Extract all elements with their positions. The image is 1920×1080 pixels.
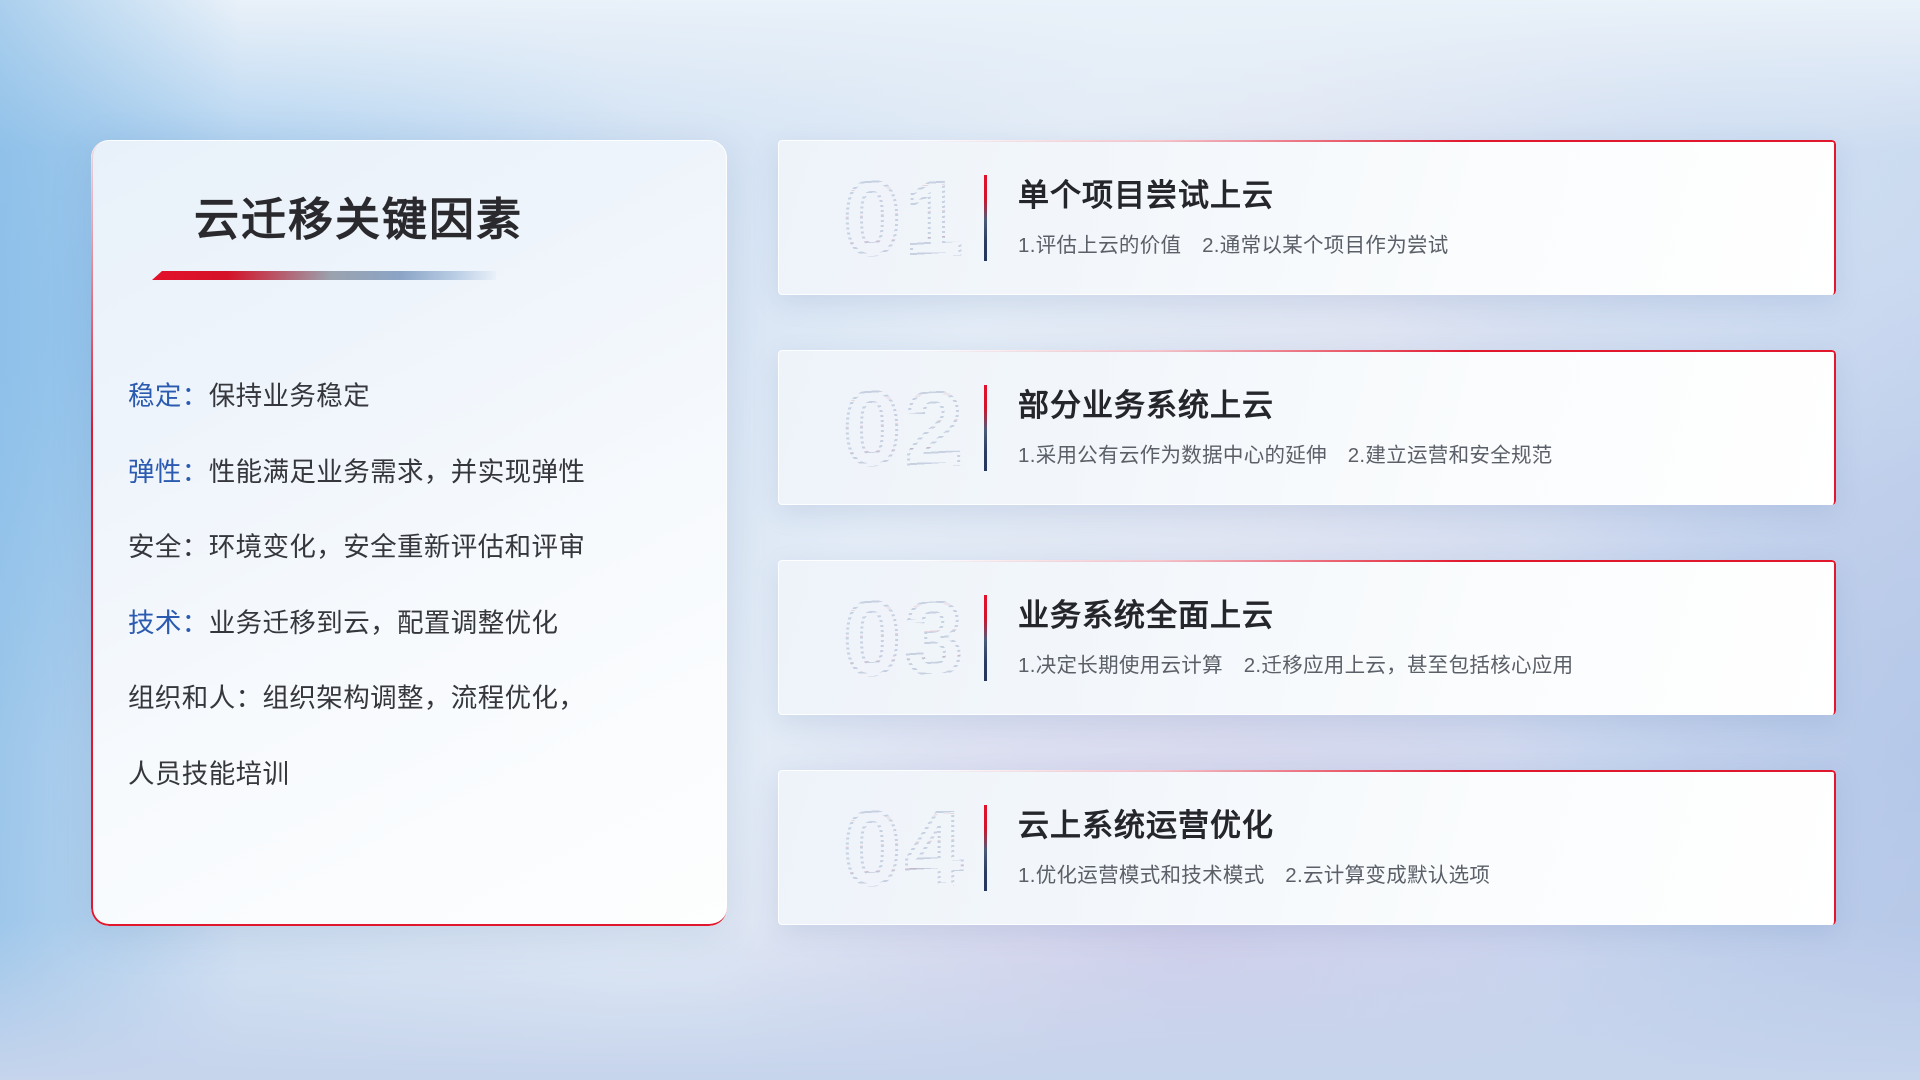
step-card-04[interactable]: 04 04 云上系统运营优化 1.优化运营模式和技术模式 2.云计算变成默认选项 — [778, 770, 1836, 925]
factor-text: 组织架构调整，流程优化， — [263, 683, 586, 713]
list-item: 技术：业务迁移到云，配置调整优化 — [128, 610, 688, 637]
factor-text: 保持业务稳定 — [209, 381, 370, 411]
list-item: 人员技能培训 — [128, 761, 688, 788]
step-number-accent-overlay: 02 — [810, 370, 1000, 488]
step-card-01[interactable]: 01 01 单个项目尝试上云 1.评估上云的价值 2.通常以某个项目作为尝试 — [778, 140, 1836, 295]
factor-label: 技术： — [128, 608, 209, 638]
step-number-accent-overlay: 03 — [810, 580, 1000, 698]
factor-label: 组织和人： — [128, 683, 263, 713]
step-card-03[interactable]: 03 03 业务系统全面上云 1.决定长期使用云计算 2.迁移应用上云，甚至包括… — [778, 560, 1836, 715]
factor-label: 稳定： — [128, 381, 209, 411]
list-item: 组织和人：组织架构调整，流程优化， — [128, 685, 688, 712]
list-item: 弹性：性能满足业务需求，并实现弹性 — [128, 459, 688, 486]
step-divider-bar — [984, 385, 987, 471]
factor-label: 安全： — [128, 532, 209, 562]
factor-label: 弹性： — [128, 457, 209, 487]
step-number-accent-overlay: 01 — [810, 160, 1000, 278]
step-title: 部分业务系统上云 — [1018, 380, 1274, 425]
list-item: 稳定：保持业务稳定 — [128, 383, 688, 410]
factor-text: 人员技能培训 — [128, 759, 289, 789]
factor-text: 业务迁移到云，配置调整优化 — [209, 608, 559, 638]
step-title: 云上系统运营优化 — [1018, 800, 1274, 845]
step-subtitle: 1.决定长期使用云计算 2.迁移应用上云，甚至包括核心应用 — [1018, 648, 1573, 678]
step-title: 单个项目尝试上云 — [1018, 170, 1274, 215]
step-subtitle: 1.评估上云的价值 2.通常以某个项目作为尝试 — [1018, 228, 1449, 258]
step-divider-bar — [984, 595, 987, 681]
step-subtitle: 1.采用公有云作为数据中心的延伸 2.建立运营和安全规范 — [1018, 438, 1553, 468]
step-divider-bar — [984, 175, 987, 261]
step-subtitle: 1.优化运营模式和技术模式 2.云计算变成默认选项 — [1018, 858, 1490, 888]
page-title: 云迁移关键因素 — [194, 183, 523, 248]
factor-text: 环境变化，安全重新评估和评审 — [209, 532, 586, 562]
step-number-accent-overlay: 04 — [810, 790, 1000, 908]
slide-stage: 云迁移关键因素 稳定：保持业务稳定 弹性：性能满足业务需求，并实现弹性 安全：环… — [0, 0, 1920, 1080]
step-divider-bar — [984, 805, 987, 891]
step-card-02[interactable]: 02 02 部分业务系统上云 1.采用公有云作为数据中心的延伸 2.建立运营和安… — [778, 350, 1836, 505]
factor-text: 性能满足业务需求，并实现弹性 — [209, 457, 586, 487]
step-title: 业务系统全面上云 — [1018, 590, 1274, 635]
key-factors-list: 稳定：保持业务稳定 弹性：性能满足业务需求，并实现弹性 安全：环境变化，安全重新… — [128, 383, 688, 787]
title-underline-rule — [152, 271, 496, 280]
list-item: 安全：环境变化，安全重新评估和评审 — [128, 534, 688, 561]
